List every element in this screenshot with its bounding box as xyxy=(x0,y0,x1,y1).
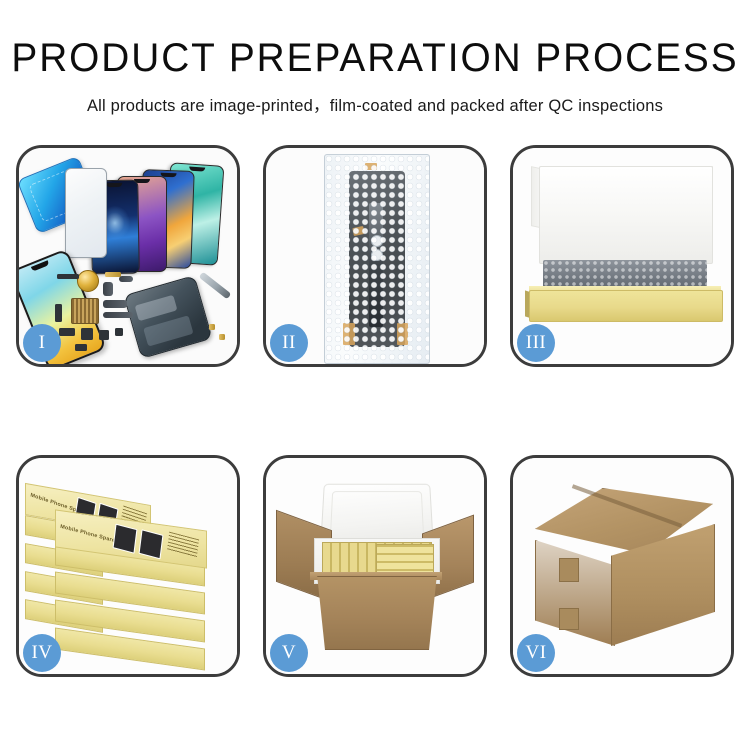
small-part xyxy=(75,344,87,351)
small-part xyxy=(55,304,62,322)
small-part xyxy=(103,300,127,308)
step-badge-4: IV xyxy=(23,634,61,672)
process-step-panel-4: Mobile Phone Spare Parts Mobile Phone Sp… xyxy=(16,455,240,677)
step-badge-2: II xyxy=(270,324,308,362)
carton-tape xyxy=(559,608,579,630)
small-part xyxy=(57,274,79,279)
carton-tape xyxy=(559,558,579,582)
page-subtitle: All products are image-printed，film-coat… xyxy=(0,92,750,116)
notch-icon xyxy=(189,167,205,172)
connector-grid-part xyxy=(71,298,99,324)
carton-front-panel xyxy=(312,576,442,650)
small-part xyxy=(115,328,123,336)
small-part xyxy=(209,324,215,330)
small-part xyxy=(81,328,93,340)
small-part xyxy=(103,282,113,296)
small-part xyxy=(59,328,75,336)
small-part xyxy=(99,330,109,340)
foam-lid xyxy=(539,166,713,264)
small-part xyxy=(219,334,225,340)
notch-icon xyxy=(106,183,122,187)
notch-icon xyxy=(31,260,50,271)
box-print-text-lines xyxy=(167,532,199,559)
process-step-grid: I II xyxy=(16,145,734,730)
process-step-panel-5: V xyxy=(263,455,487,677)
step-badge-6: VI xyxy=(517,634,555,672)
process-step-panel-1: I xyxy=(16,145,240,367)
page-header: PRODUCT PREPARATION PROCESS All products… xyxy=(0,0,750,116)
process-step-panel-2: II xyxy=(263,145,487,367)
yellow-box-base xyxy=(529,290,723,322)
bubble-texture xyxy=(325,155,429,363)
small-part xyxy=(119,276,133,282)
process-step-panel-6: VI xyxy=(510,455,734,677)
step-badge-3: III xyxy=(517,324,555,362)
box-print-window xyxy=(113,524,138,554)
step-badge-1: I xyxy=(23,324,61,362)
small-part xyxy=(103,312,133,318)
box-print-window xyxy=(139,529,164,559)
step-badge-5: V xyxy=(270,634,308,672)
speaker-coil-part xyxy=(77,270,99,292)
page-title: PRODUCT PREPARATION PROCESS xyxy=(11,38,739,78)
process-step-panel-3: III xyxy=(510,145,734,367)
screen-protector xyxy=(65,168,107,258)
bubble-wrap-bag xyxy=(324,154,430,364)
